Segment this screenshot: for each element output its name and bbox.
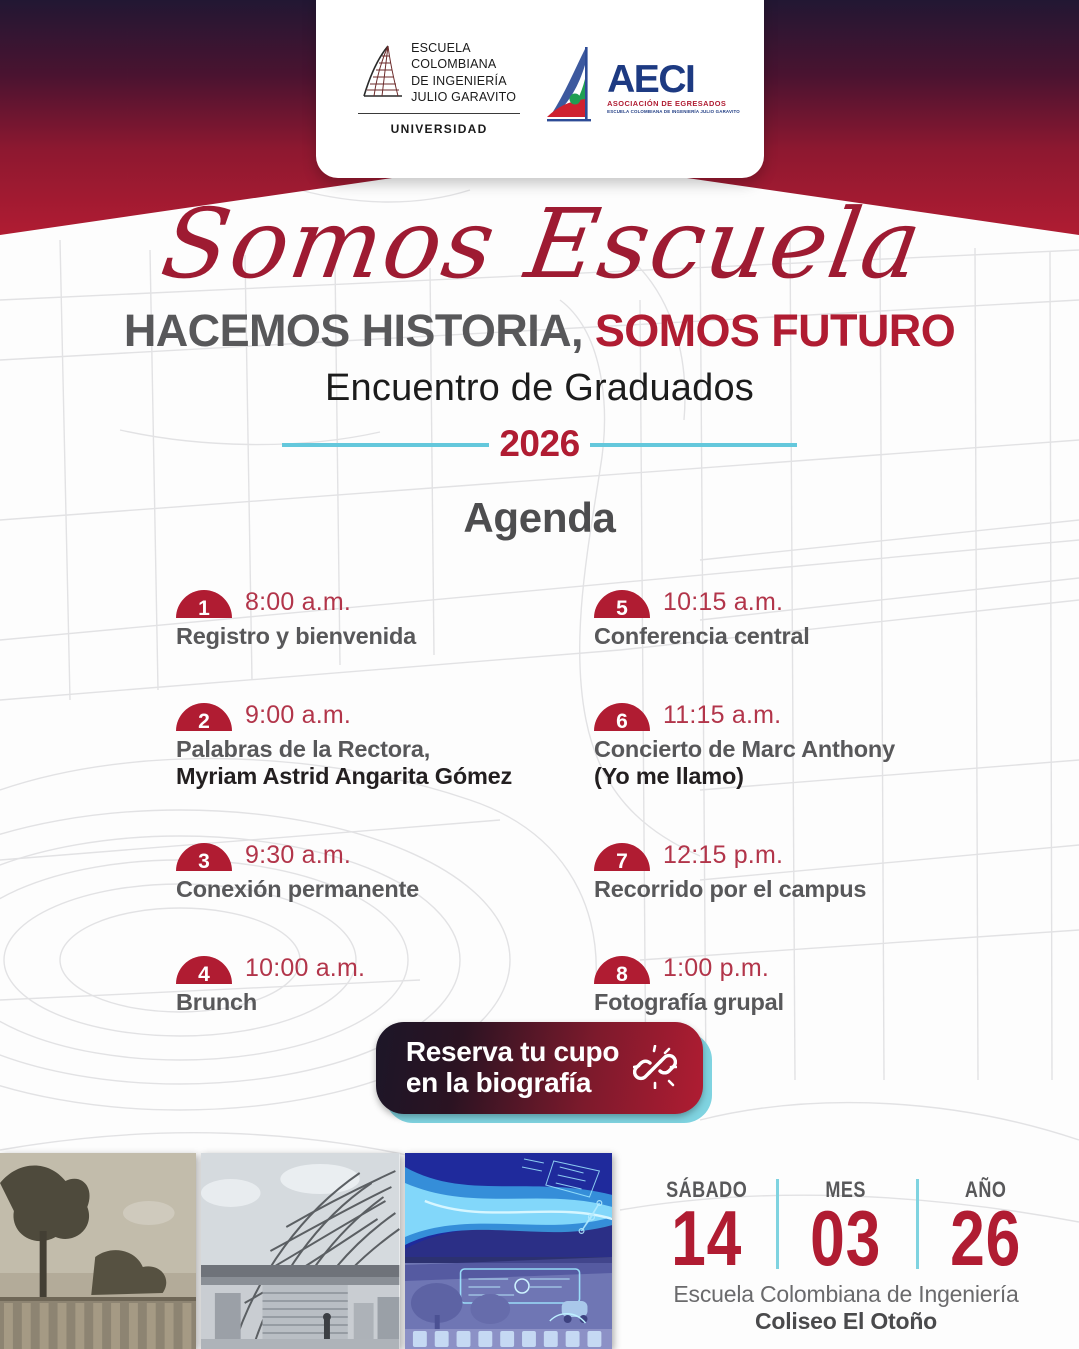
date-day: SÁBADO 14	[637, 1177, 776, 1275]
headline-red: SOMOS FUTURO	[595, 305, 955, 356]
year-row: 2026	[0, 422, 1079, 466]
reserve-spot-button[interactable]: Reserva tu cupo en la biografía	[376, 1022, 703, 1114]
escuela-mesh-icon	[362, 44, 404, 106]
header-logo-card: Escuela Colombiana de Ingeniería Julio G…	[316, 0, 764, 178]
eci-line-4: Julio Garavito	[411, 89, 516, 106]
agenda-number-badge: 1	[176, 590, 232, 618]
date-month: MES 03	[776, 1177, 915, 1275]
eci-line-1: Escuela	[411, 40, 516, 57]
cta-section: Reserva tu cupo en la biografía	[0, 1022, 1079, 1114]
venue-institution: Escuela Colombiana de Ingeniería	[637, 1281, 1055, 1308]
agenda-description: Recorrido por el campus	[594, 876, 936, 902]
broken-link-icon	[633, 1045, 677, 1089]
agenda-item-1: 1 8:00 a.m. Registro y bienvenida	[176, 588, 594, 649]
headline-grey: HACEMOS HISTORIA,	[124, 305, 583, 356]
agenda-item-7: 7 12:15 p.m. Recorrido por el campus	[594, 841, 936, 902]
agenda-item-8: 8 1:00 p.m. Fotografía grupal	[594, 954, 936, 1015]
agenda-time: 12:15 p.m.	[663, 841, 783, 871]
agenda-item-6: 6 11:15 a.m. Concierto de Marc Anthony (…	[594, 701, 936, 789]
agenda-time: 8:00 a.m.	[245, 588, 351, 618]
date-month-value: 03	[797, 1203, 896, 1275]
hero-section: Somos Escuela HACEMOS HISTORIA, SOMOS FU…	[0, 196, 1079, 542]
venue-location: Coliseo El Otoño	[637, 1308, 1055, 1335]
agenda-description-2: Myriam Astrid Angarita Gómez	[176, 763, 594, 789]
agenda-time: 9:00 a.m.	[245, 701, 351, 731]
cta-label: Reserva tu cupo en la biografía	[406, 1036, 619, 1099]
agenda-description: Palabras de la Rectora, Myriam Astrid An…	[176, 736, 594, 789]
agenda-number-badge: 8	[594, 956, 650, 984]
agenda-description: Conferencia central	[594, 623, 936, 649]
agenda-time: 10:00 a.m.	[245, 954, 365, 984]
photo-strip	[0, 1153, 612, 1349]
agenda-item-4: 4 10:00 a.m. Brunch	[176, 954, 594, 1015]
date-year: AÑO 26	[916, 1177, 1055, 1275]
agenda-time: 9:30 a.m.	[245, 841, 351, 871]
headline: HACEMOS HISTORIA, SOMOS FUTURO	[0, 308, 1079, 353]
aeci-subtitle-1: ASOCIACIÓN DE EGRESADOS	[607, 99, 740, 108]
subtitle: Encuentro de Graduados	[0, 367, 1079, 410]
agenda-time: 11:15 a.m.	[663, 701, 781, 731]
logo-divider	[358, 113, 520, 114]
script-title: Somos Escuela	[0, 196, 1079, 292]
agenda-description-2: (Yo me llamo)	[594, 763, 936, 789]
aeci-subtitle-2: ESCUELA COLOMBIANA DE INGENIERÍA JULIO G…	[607, 109, 740, 114]
agenda-number-badge: 5	[594, 590, 650, 618]
cta-line-1: Reserva tu cupo	[406, 1036, 619, 1067]
eci-line-3: de Ingeniería	[411, 73, 516, 90]
agenda-item-5: 5 10:15 a.m. Conferencia central	[594, 588, 936, 649]
campus-building-photo	[201, 1153, 399, 1349]
agenda-time: 10:15 a.m.	[663, 588, 783, 618]
agenda-heading: Agenda	[0, 494, 1079, 542]
agenda-description: Conexión permanente	[176, 876, 594, 902]
agenda-item-2: 2 9:00 a.m. Palabras de la Rectora, Myri…	[176, 701, 594, 789]
event-date-block: SÁBADO 14 MES 03 AÑO 26 Escuela Colombia…	[637, 1177, 1055, 1335]
agenda-item-3: 3 9:30 a.m. Conexión permanente	[176, 841, 594, 902]
agenda-description: Brunch	[176, 989, 594, 1015]
agenda-number-badge: 7	[594, 843, 650, 871]
universidad-tagline: UNIVERSIDAD	[391, 122, 488, 136]
cta-line-2: en la biografía	[406, 1067, 619, 1098]
campus-trees-photo	[0, 1153, 196, 1349]
aeci-logo: AECI ASOCIACIÓN DE EGRESADOS ESCUELA COL…	[545, 45, 740, 131]
aeci-figure-icon	[545, 45, 603, 131]
agenda-number-badge: 3	[176, 843, 232, 871]
escuela-logo: Escuela Colombiana de Ingeniería Julio G…	[339, 40, 539, 136]
agenda-number-badge: 2	[176, 703, 232, 731]
agenda-description: Fotografía grupal	[594, 989, 936, 1015]
year-label: 2026	[489, 423, 589, 465]
aeci-wordmark: AECI	[607, 62, 740, 97]
agenda-description: Concierto de Marc Anthony (Yo me llamo)	[594, 736, 936, 789]
agenda-number-badge: 6	[594, 703, 650, 731]
tech-visualization-photo	[405, 1153, 612, 1349]
agenda-description: Registro y bienvenida	[176, 623, 594, 649]
date-day-value: 14	[657, 1203, 756, 1275]
agenda-number-badge: 4	[176, 956, 232, 984]
date-year-value: 26	[936, 1203, 1035, 1275]
eci-line-2: Colombiana	[411, 56, 516, 73]
agenda-list: 1 8:00 a.m. Registro y bienvenida 5 10:1…	[176, 588, 936, 1016]
agenda-time: 1:00 p.m.	[663, 954, 769, 984]
